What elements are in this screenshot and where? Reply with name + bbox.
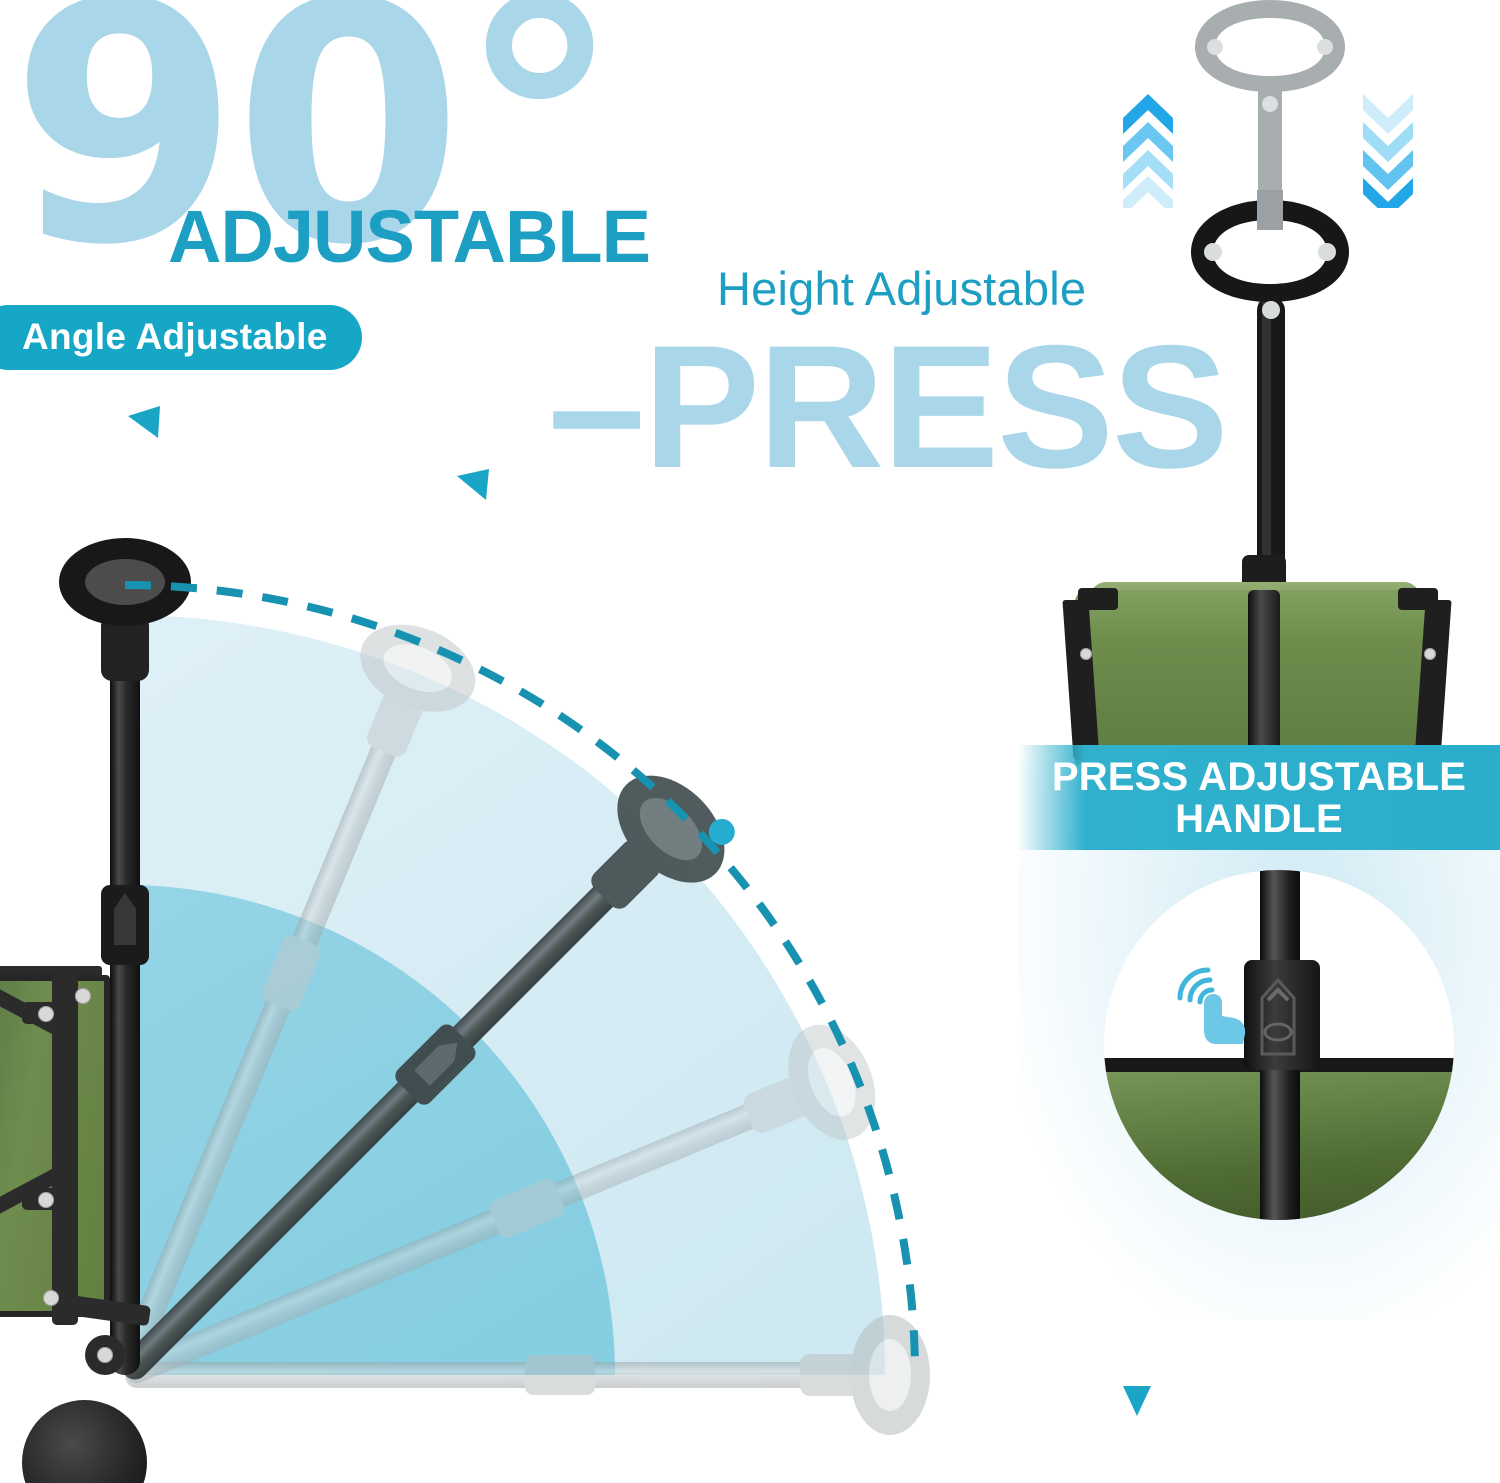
zoom-callout-circle — [1104, 870, 1454, 1220]
pole-through-cart — [1248, 590, 1280, 770]
rivet-bottom — [43, 1290, 59, 1306]
angle-adjustable-pill-label: Angle Adjustable — [22, 316, 328, 357]
cart-bracket-right — [1398, 588, 1438, 610]
release-button-glyph — [1256, 970, 1300, 1062]
rivet-post-top — [75, 988, 91, 1004]
banner-line-2: HANDLE — [1052, 798, 1466, 840]
rivet-lower — [38, 1192, 54, 1208]
cart-bracket-left — [1078, 588, 1118, 610]
angle-sweep-svg — [0, 430, 1060, 1483]
arrow-down-icon — [1123, 1386, 1151, 1416]
angle-sweep-diagram — [0, 430, 1060, 1483]
angle-adjustable-pill: Angle Adjustable — [0, 305, 362, 370]
tap-press-icon — [1166, 956, 1262, 1052]
cart-rivet-left — [1080, 648, 1092, 660]
press-adjustable-handle-banner: PRESS ADJUSTABLE HANDLE — [1018, 745, 1500, 850]
rivet-upper — [38, 1006, 54, 1022]
cart-rivet-right — [1424, 648, 1436, 660]
adjustable-headline: ADJUSTABLE — [168, 200, 650, 274]
height-adjustable-kicker: Height Adjustable — [717, 265, 1086, 312]
infographic-canvas: 90° ADJUSTABLE Angle Adjustable Height A… — [0, 0, 1500, 1483]
pivot-hub-rivet — [97, 1347, 113, 1363]
frame-post-vertical — [52, 975, 78, 1325]
banner-line-1: PRESS ADJUSTABLE — [1052, 756, 1466, 798]
